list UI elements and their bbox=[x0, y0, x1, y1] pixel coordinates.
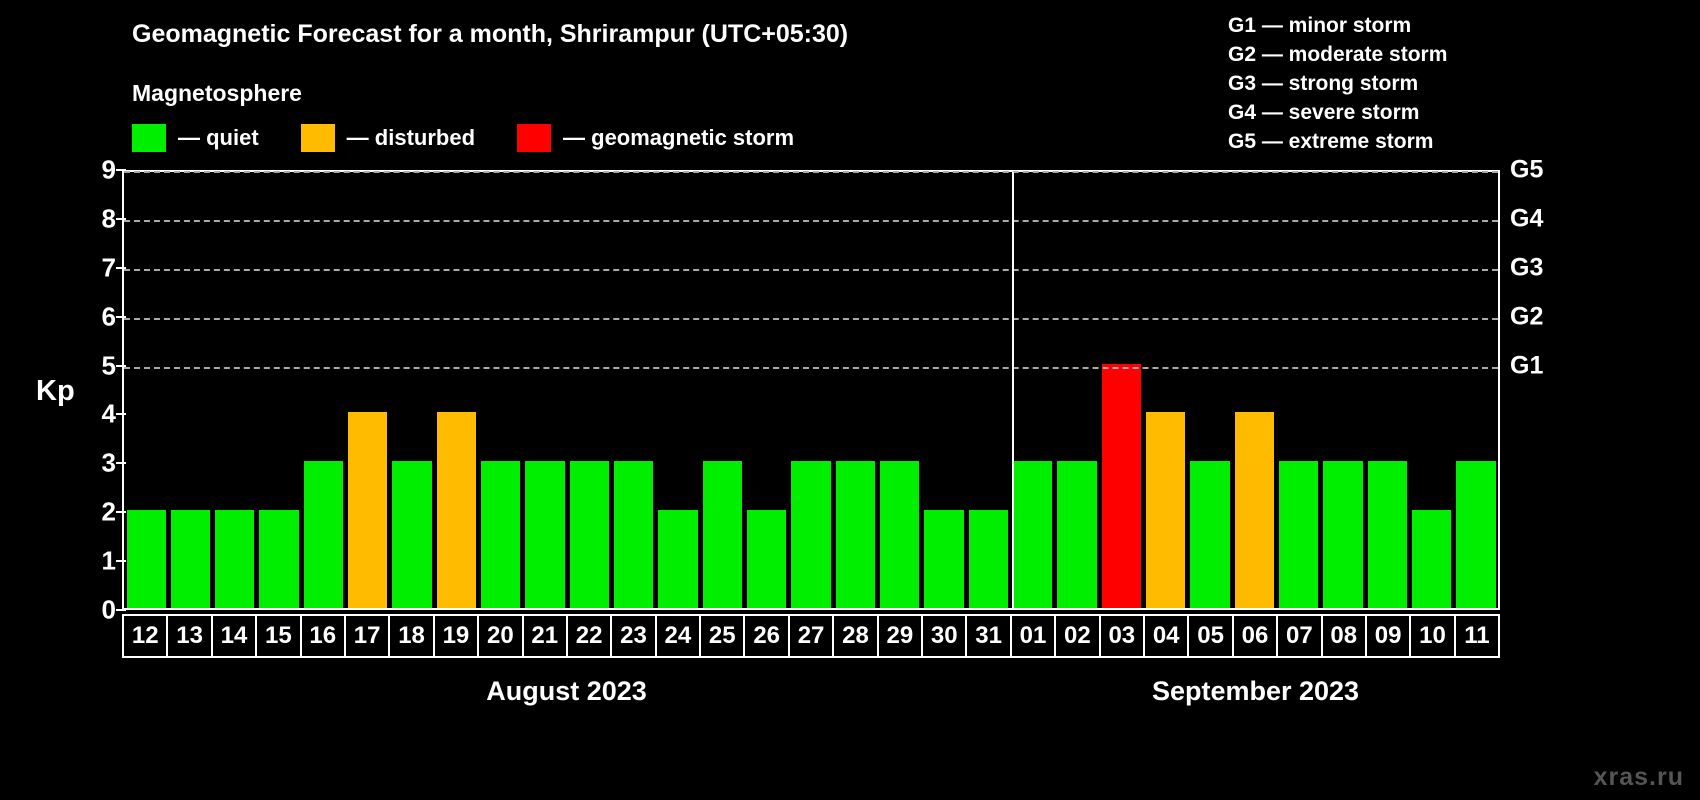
bar[interactable] bbox=[658, 510, 697, 608]
day-label[interactable]: 31 bbox=[965, 614, 1011, 658]
y-axis-tick-label: 0 bbox=[102, 595, 116, 626]
bar-slot[interactable] bbox=[124, 172, 168, 608]
bar[interactable] bbox=[570, 461, 609, 608]
bar[interactable] bbox=[1323, 461, 1362, 608]
y-axis-tick-label: 2 bbox=[102, 497, 116, 528]
bar-slot[interactable] bbox=[878, 172, 922, 608]
y-axis-tick bbox=[116, 169, 126, 171]
bar-slot[interactable] bbox=[1144, 172, 1188, 608]
day-label[interactable]: 01 bbox=[1010, 614, 1056, 658]
day-label[interactable]: 28 bbox=[832, 614, 878, 658]
day-label[interactable]: 26 bbox=[743, 614, 789, 658]
green-square-icon bbox=[132, 124, 166, 152]
day-label[interactable]: 05 bbox=[1187, 614, 1233, 658]
y-axis-tick bbox=[116, 560, 126, 562]
bar-slot[interactable] bbox=[301, 172, 345, 608]
legend: — quiet— disturbed— geomagnetic storm bbox=[132, 124, 836, 152]
geomagnetic-forecast-chart: Geomagnetic Forecast for a month, Shrira… bbox=[0, 0, 1700, 800]
day-label[interactable]: 12 bbox=[122, 614, 168, 658]
bar[interactable] bbox=[215, 510, 254, 608]
day-label[interactable]: 30 bbox=[921, 614, 967, 658]
day-label[interactable]: 06 bbox=[1232, 614, 1278, 658]
day-label[interactable]: 19 bbox=[433, 614, 479, 658]
bar[interactable] bbox=[791, 461, 830, 608]
grid-line bbox=[124, 269, 1498, 271]
bar-slot[interactable] bbox=[1232, 172, 1276, 608]
day-label[interactable]: 29 bbox=[877, 614, 923, 658]
bar-slot[interactable] bbox=[789, 172, 833, 608]
bar-slot[interactable] bbox=[833, 172, 877, 608]
red-square-icon bbox=[517, 124, 551, 152]
bar[interactable] bbox=[1057, 461, 1096, 608]
bar-slot[interactable] bbox=[966, 172, 1010, 608]
bar[interactable] bbox=[304, 461, 343, 608]
bar-slot[interactable] bbox=[1055, 172, 1099, 608]
legend-item: — quiet bbox=[132, 124, 301, 152]
month-caption: August 2023 bbox=[367, 676, 767, 707]
g-scale-legend: G1 — minor stormG2 — moderate stormG3 — … bbox=[1228, 11, 1447, 156]
bar-slot[interactable] bbox=[1188, 172, 1232, 608]
g-scale-row: G5 — extreme storm bbox=[1228, 127, 1447, 156]
legend-item-label: — disturbed bbox=[347, 125, 475, 151]
bar[interactable] bbox=[1456, 461, 1495, 608]
bar[interactable] bbox=[171, 510, 210, 608]
day-label[interactable]: 03 bbox=[1099, 614, 1145, 658]
bar[interactable] bbox=[880, 461, 919, 608]
bar-slot[interactable] bbox=[257, 172, 301, 608]
bar-slot[interactable] bbox=[213, 172, 257, 608]
bar[interactable] bbox=[259, 510, 298, 608]
bar[interactable] bbox=[1102, 364, 1141, 608]
bar-slot[interactable] bbox=[1321, 172, 1365, 608]
bar-slot[interactable] bbox=[1099, 172, 1143, 608]
day-label[interactable]: 15 bbox=[255, 614, 301, 658]
month-caption: September 2023 bbox=[1056, 676, 1456, 707]
y-axis: 9876543210 bbox=[60, 170, 116, 610]
page-title: Geomagnetic Forecast for a month, Shrira… bbox=[132, 20, 848, 49]
grid-line bbox=[124, 367, 1498, 369]
day-label[interactable]: 16 bbox=[300, 614, 346, 658]
bar[interactable] bbox=[481, 461, 520, 608]
bar[interactable] bbox=[1190, 461, 1229, 608]
bar-slot[interactable] bbox=[612, 172, 656, 608]
g-axis-tick-label: G5 bbox=[1510, 156, 1543, 185]
bar[interactable] bbox=[836, 461, 875, 608]
grid-line bbox=[124, 171, 1498, 173]
y-axis-tick bbox=[116, 365, 126, 367]
bar[interactable] bbox=[614, 461, 653, 608]
day-label[interactable]: 25 bbox=[699, 614, 745, 658]
legend-item: — geomagnetic storm bbox=[517, 124, 836, 152]
day-label[interactable]: 22 bbox=[566, 614, 612, 658]
y-axis-tick bbox=[116, 413, 126, 415]
day-label[interactable]: 21 bbox=[522, 614, 568, 658]
y-axis-tick bbox=[116, 609, 126, 611]
day-label[interactable]: 24 bbox=[655, 614, 701, 658]
bar[interactable] bbox=[1235, 412, 1274, 608]
bar-slot[interactable] bbox=[1011, 172, 1055, 608]
day-label[interactable]: 27 bbox=[788, 614, 834, 658]
bar-slot[interactable] bbox=[922, 172, 966, 608]
day-label[interactable]: 08 bbox=[1321, 614, 1367, 658]
bar[interactable] bbox=[437, 412, 476, 608]
g-scale-row: G4 — severe storm bbox=[1228, 98, 1447, 127]
g-axis-tick-label: G2 bbox=[1510, 302, 1543, 331]
bar-slot[interactable] bbox=[1454, 172, 1498, 608]
bar[interactable] bbox=[525, 461, 564, 608]
bar[interactable] bbox=[127, 510, 166, 608]
y-axis-tick-label: 7 bbox=[102, 252, 116, 283]
grid-line bbox=[124, 220, 1498, 222]
y-axis-tick-label: 4 bbox=[102, 399, 116, 430]
day-axis: 1213141516171819202122232425262728293031… bbox=[122, 614, 1500, 658]
bar[interactable] bbox=[1412, 510, 1451, 608]
y-axis-tick-label: 8 bbox=[102, 203, 116, 234]
y-axis-tick-label: 3 bbox=[102, 448, 116, 479]
orange-square-icon bbox=[301, 124, 335, 152]
bar-slot[interactable] bbox=[745, 172, 789, 608]
bar[interactable] bbox=[1146, 412, 1185, 608]
bar[interactable] bbox=[1368, 461, 1407, 608]
bars-layer bbox=[124, 172, 1498, 608]
bar-slot[interactable] bbox=[479, 172, 523, 608]
day-label[interactable]: 14 bbox=[211, 614, 257, 658]
g-scale-row: G2 — moderate storm bbox=[1228, 40, 1447, 69]
bar[interactable] bbox=[969, 510, 1008, 608]
bar-slot[interactable] bbox=[1365, 172, 1409, 608]
y-axis-tick bbox=[116, 462, 126, 464]
bar[interactable] bbox=[747, 510, 786, 608]
day-label[interactable]: 13 bbox=[166, 614, 212, 658]
day-label[interactable]: 07 bbox=[1276, 614, 1322, 658]
bar[interactable] bbox=[348, 412, 387, 608]
bar[interactable] bbox=[703, 461, 742, 608]
plot-area bbox=[122, 170, 1500, 610]
bar-slot[interactable] bbox=[168, 172, 212, 608]
day-label[interactable]: 09 bbox=[1365, 614, 1411, 658]
y-axis-tick-label: 1 bbox=[102, 546, 116, 577]
day-label[interactable]: 23 bbox=[610, 614, 656, 658]
g-axis-tick-label: G4 bbox=[1510, 204, 1543, 233]
y-axis-tick bbox=[116, 316, 126, 318]
magnetosphere-label: Magnetosphere bbox=[132, 80, 302, 107]
y-axis-tick bbox=[116, 267, 126, 269]
month-separator bbox=[1012, 172, 1014, 608]
watermark: xras.ru bbox=[1594, 763, 1684, 792]
grid-line bbox=[124, 318, 1498, 320]
legend-item: — disturbed bbox=[301, 124, 517, 152]
g-scale-row: G1 — minor storm bbox=[1228, 11, 1447, 40]
bar-slot[interactable] bbox=[1277, 172, 1321, 608]
day-label[interactable]: 02 bbox=[1054, 614, 1100, 658]
bar[interactable] bbox=[392, 461, 431, 608]
day-label[interactable]: 18 bbox=[388, 614, 434, 658]
day-label[interactable]: 20 bbox=[477, 614, 523, 658]
bar-slot[interactable] bbox=[434, 172, 478, 608]
y-axis-tick-label: 9 bbox=[102, 155, 116, 186]
y-axis-tick bbox=[116, 218, 126, 220]
g-axis-tick-label: G3 bbox=[1510, 253, 1543, 282]
y-axis-tick-label: 6 bbox=[102, 301, 116, 332]
bar-slot[interactable] bbox=[656, 172, 700, 608]
bar[interactable] bbox=[924, 510, 963, 608]
day-label[interactable]: 10 bbox=[1409, 614, 1455, 658]
bar[interactable] bbox=[1279, 461, 1318, 608]
bar-slot[interactable] bbox=[567, 172, 611, 608]
legend-item-label: — quiet bbox=[178, 125, 259, 151]
right-g-axis: G5G4G3G2G1 bbox=[1510, 170, 1580, 610]
legend-item-label: — geomagnetic storm bbox=[563, 125, 794, 151]
day-label[interactable]: 04 bbox=[1143, 614, 1189, 658]
g-scale-row: G3 — strong storm bbox=[1228, 69, 1447, 98]
day-label[interactable]: 17 bbox=[344, 614, 390, 658]
g-axis-tick-label: G1 bbox=[1510, 351, 1543, 380]
bar-slot[interactable] bbox=[700, 172, 744, 608]
y-axis-tick-label: 5 bbox=[102, 350, 116, 381]
bar-slot[interactable] bbox=[523, 172, 567, 608]
bar-slot[interactable] bbox=[390, 172, 434, 608]
bar-slot[interactable] bbox=[346, 172, 390, 608]
bar-slot[interactable] bbox=[1410, 172, 1454, 608]
day-label[interactable]: 11 bbox=[1454, 614, 1500, 658]
y-axis-tick bbox=[116, 511, 126, 513]
bar[interactable] bbox=[1013, 461, 1052, 608]
